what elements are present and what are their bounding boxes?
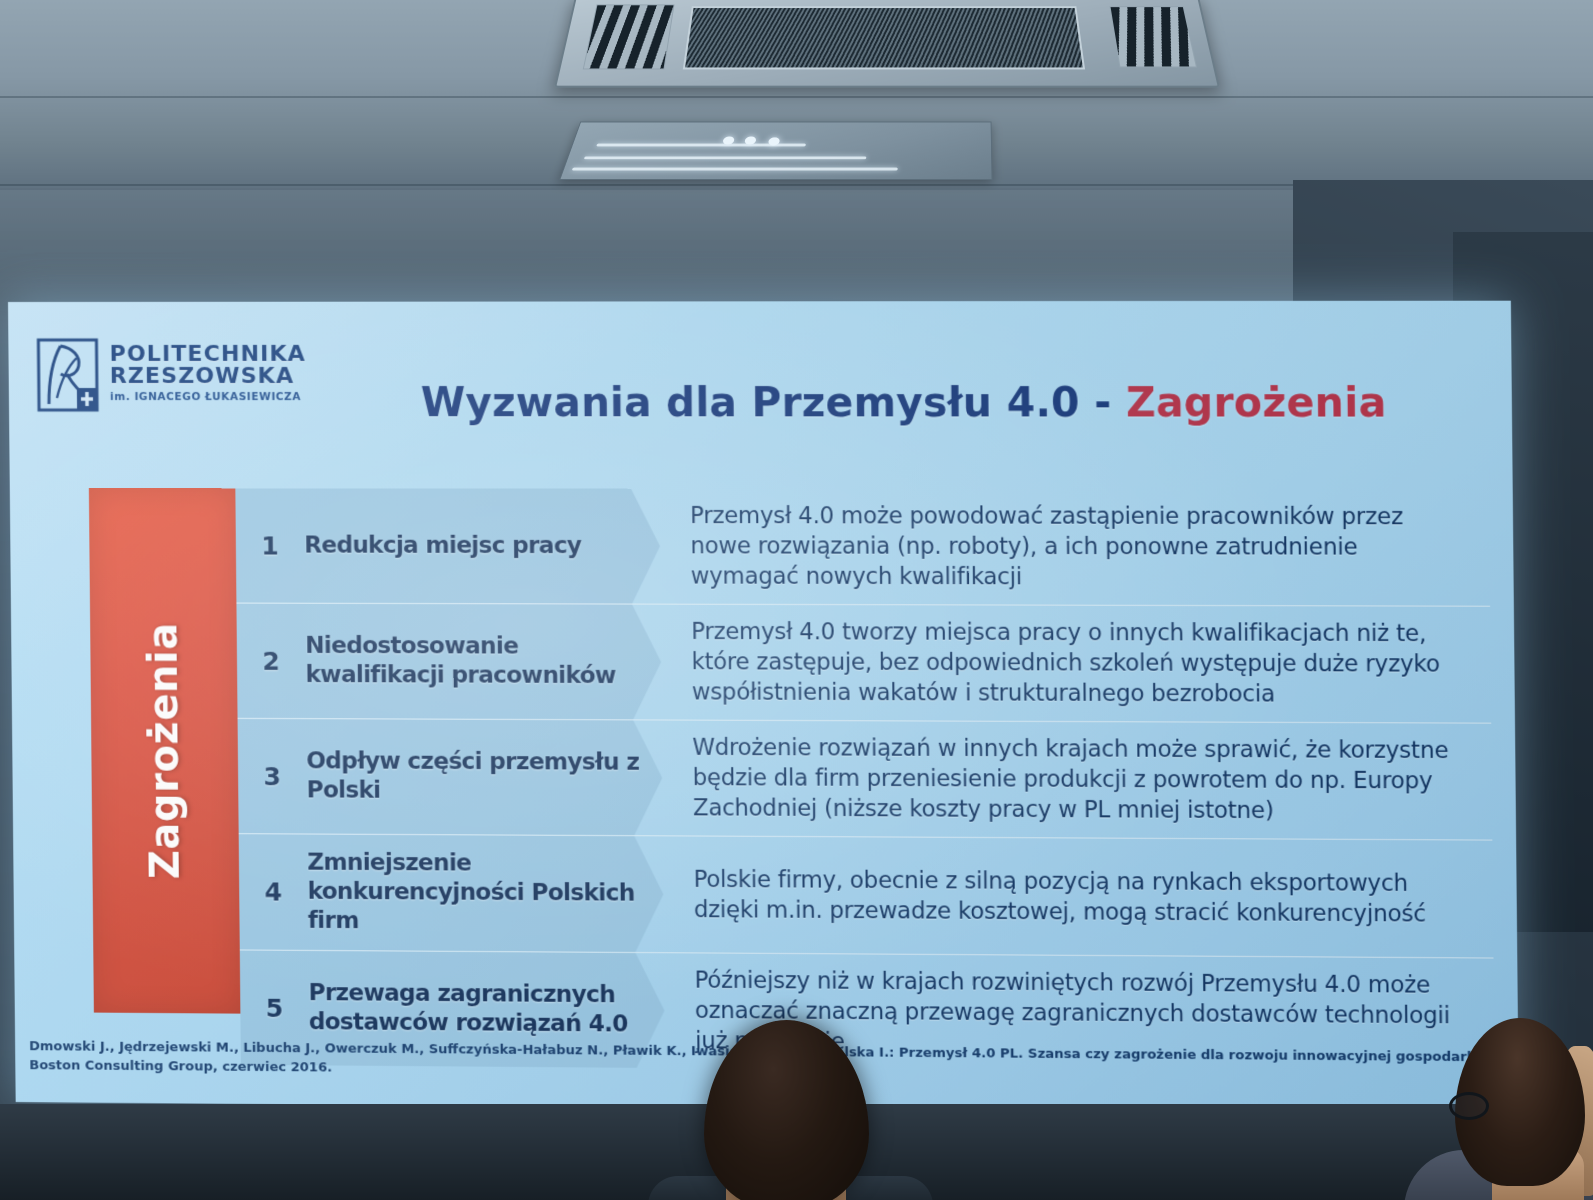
slide-title: Wyzwania dla Przemysłu 4.0 - Zagrożenia [421,380,1453,427]
row-number: 4 [239,877,308,906]
table-row: 1 Redukcja miejsc pracy Przemysł 4.0 moż… [235,488,1490,605]
row-description: Przemysł 4.0 tworzy miejsca pracy o inny… [661,605,1492,723]
logo-line-2: RZESZOWSKA [110,366,307,388]
row-label: Zmniejszenie konkurencyjności Polskich f… [307,849,664,939]
row-number: 5 [240,993,309,1023]
side-banner-label: Zagrożenia [140,622,189,879]
side-banner-zagrozenia: Zagrożenia [89,488,241,1014]
threats-table: 1 Redukcja miejsc pracy Przemysł 4.0 moż… [235,488,1494,1074]
ceiling-air-conditioner-icon [554,0,1220,88]
chevron-label-cell: 2 Niedostosowanie kwalifikacji pracownik… [236,604,661,720]
row-label: Przewaga zagranicznych dostawców rozwiąz… [308,979,664,1040]
logo-line-3: im. IGNACEGO ŁUKASIEWICZA [110,391,306,403]
university-logo: POLITECHNIKA RZESZOWSKA im. IGNACEGO ŁUK… [36,338,306,412]
row-number: 3 [238,761,307,790]
row-number: 1 [236,531,305,560]
ceiling-light-fixture-icon [559,122,992,181]
table-row: 4 Zmniejszenie konkurencyjności Polskich… [239,833,1494,957]
row-number: 2 [237,646,306,675]
row-label: Niedostosowanie kwalifikacji pracowników [305,632,661,691]
table-row: 3 Odpływ części przemysłu z Polski Wdroż… [238,718,1493,840]
row-description: Przemysł 4.0 może powodować zastąpienie … [659,489,1490,606]
chevron-label-cell: 4 Zmniejszenie konkurencyjności Polskich… [239,834,664,952]
logo-line-1: POLITECHNIKA [110,344,307,366]
row-label: Odpływ części przemysłu z Polski [306,747,662,807]
table-row: 2 Niedostosowanie kwalifikacji pracownik… [236,603,1491,723]
row-label: Redukcja miejsc pracy [304,531,596,561]
slide-title-main: Wyzwania dla Przemysłu 4.0 - [421,380,1127,427]
row-description: Wdrożenie rozwiązań w innych krajach moż… [662,720,1493,839]
rzeszow-university-crest-icon [36,338,99,412]
chevron-label-cell: 3 Odpływ części przemysłu z Polski [238,719,663,835]
projected-presentation-slide: POLITECHNIKA RZESZOWSKA im. IGNACEGO ŁUK… [8,301,1519,1115]
eyeglasses-icon [1449,1092,1489,1120]
conference-room-scene: POLITECHNIKA RZESZOWSKA im. IGNACEGO ŁUK… [0,0,1593,1200]
chevron-label-cell: 1 Redukcja miejsc pracy [235,488,660,603]
slide-title-highlight: Zagrożenia [1126,380,1387,427]
row-description: Polskie firmy, obecnie z silną pozycją n… [663,836,1494,957]
